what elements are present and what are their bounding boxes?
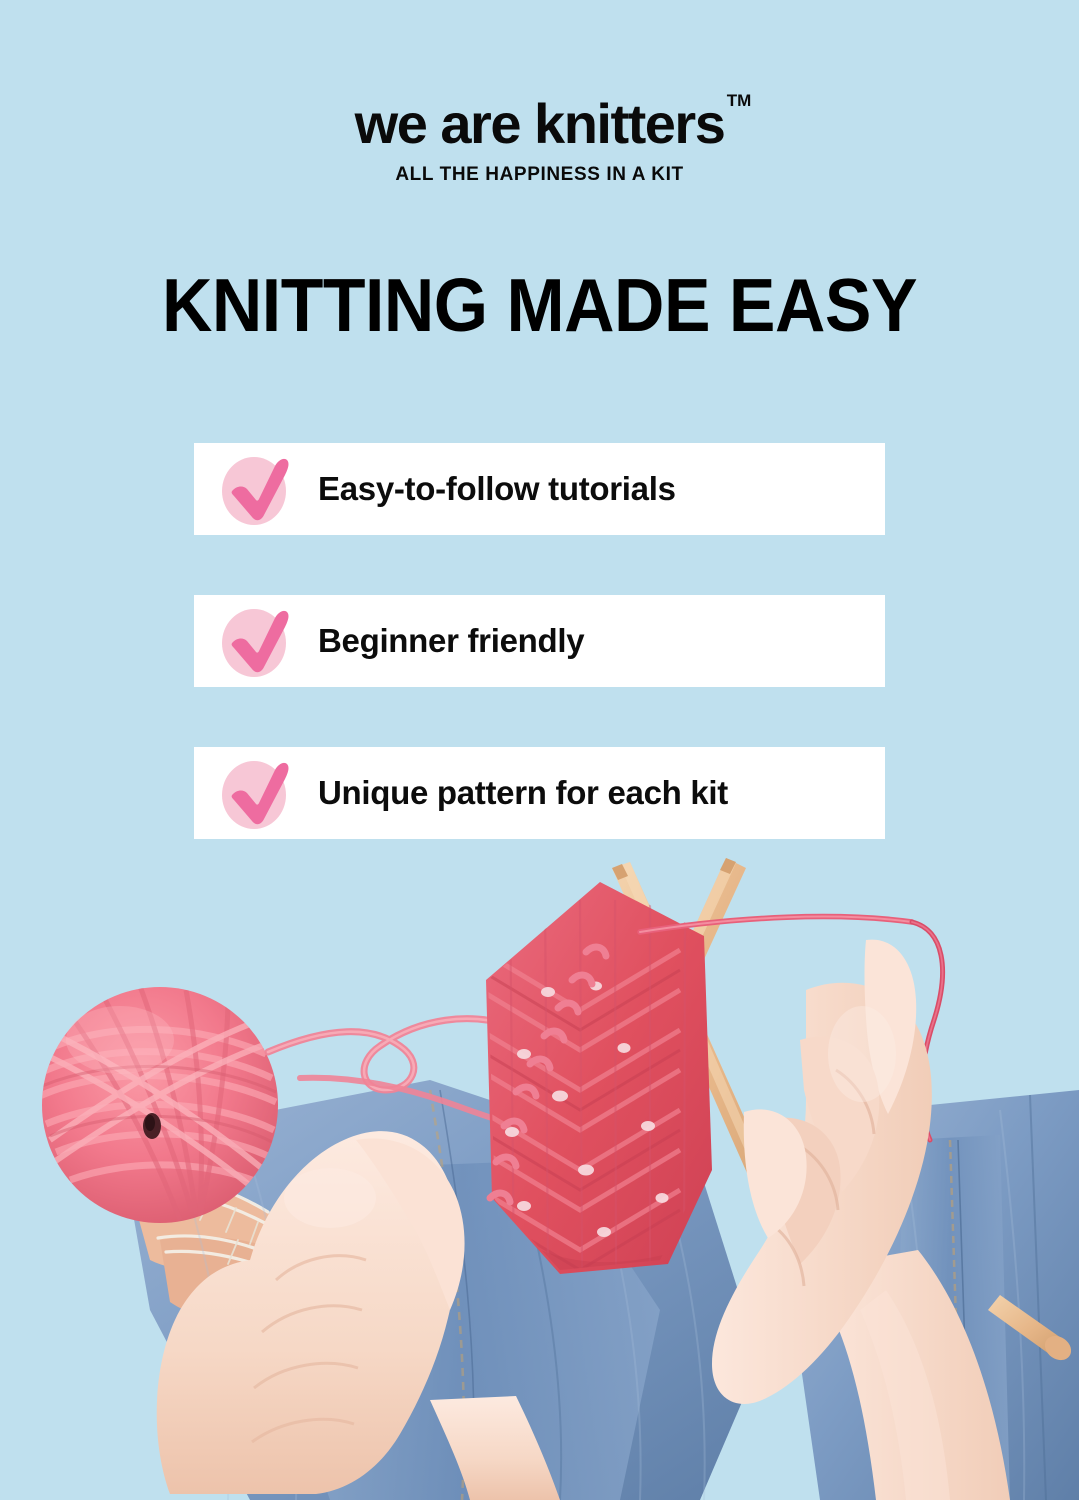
brand-logo: we are knittersTM	[355, 96, 725, 152]
feature-card-list: Easy-to-follow tutorials Beginner friend…	[194, 443, 885, 839]
feature-label: Beginner friendly	[318, 622, 584, 660]
brand-header: we are knittersTM ALL THE HAPPINESS IN A…	[0, 96, 1079, 186]
check-mark-glyph	[216, 595, 302, 687]
page-title: KNITTING MADE EASY	[38, 268, 1041, 343]
feature-card: Easy-to-follow tutorials	[194, 443, 885, 535]
check-icon	[216, 595, 302, 687]
yarn-ball	[40, 986, 278, 1223]
feature-card: Unique pattern for each kit	[194, 747, 885, 839]
feature-card: Beginner friendly	[194, 595, 885, 687]
trademark-symbol: TM	[727, 92, 752, 109]
check-mark-glyph	[216, 747, 302, 839]
brand-tagline: ALL THE HAPPINESS IN A KIT	[0, 164, 1079, 186]
feature-label: Easy-to-follow tutorials	[318, 470, 676, 508]
brand-logo-text: we are knitters	[355, 92, 725, 155]
check-icon	[216, 443, 302, 535]
check-icon	[216, 747, 302, 839]
hero-photo-illustration	[0, 840, 1079, 1500]
hero-photo	[0, 840, 1079, 1500]
feature-label: Unique pattern for each kit	[318, 774, 728, 812]
check-mark-glyph	[216, 443, 302, 535]
poster-canvas: we are knittersTM ALL THE HAPPINESS IN A…	[0, 0, 1079, 1500]
